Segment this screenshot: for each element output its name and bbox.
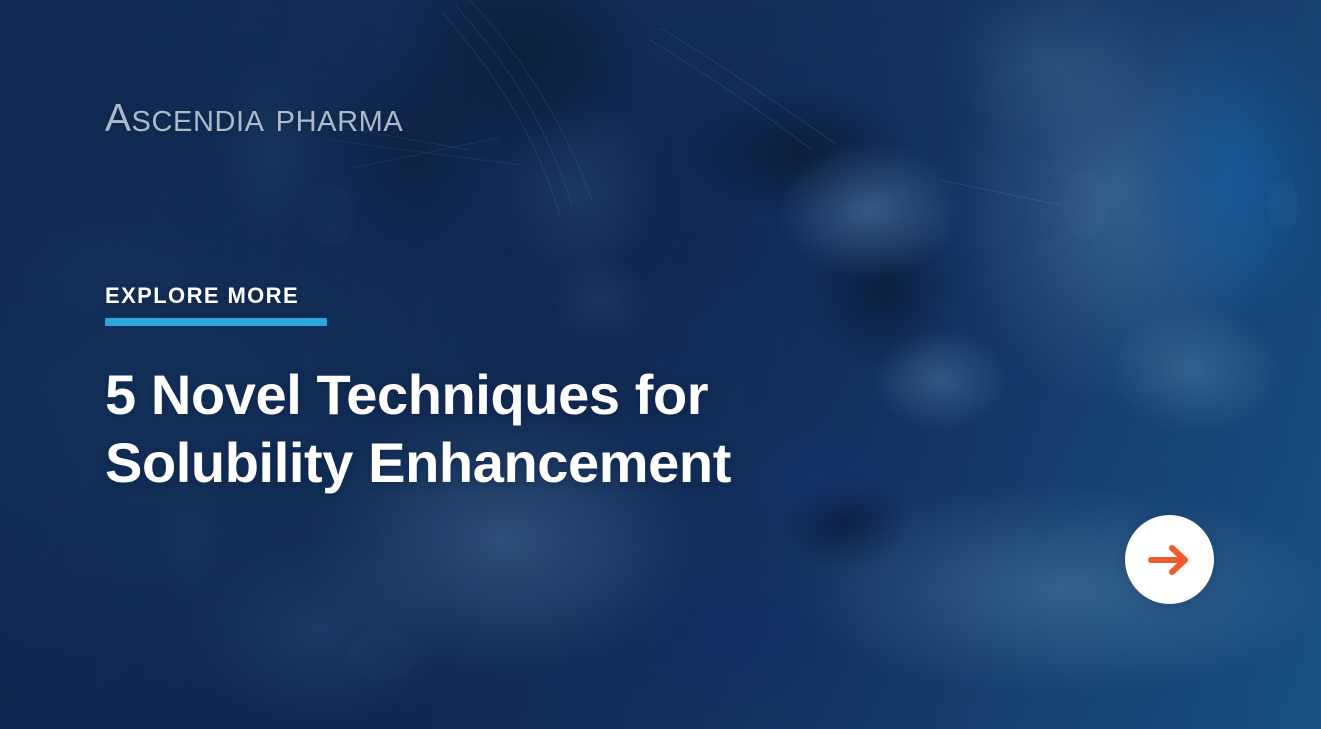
brand-logo-rest: SCENDIA	[132, 106, 265, 138]
hero-banner: ASCENDIAPHARMA EXPLORE MORE 5 Novel Tech…	[0, 0, 1321, 729]
brand-logo[interactable]: ASCENDIAPHARMA	[105, 99, 403, 138]
headline-line-2: Solubility Enhancement	[105, 429, 965, 497]
eyebrow-underline	[105, 318, 327, 326]
arrow-right-icon	[1147, 543, 1193, 577]
brand-logo-lead: A	[105, 97, 132, 140]
read-more-button[interactable]	[1125, 515, 1214, 604]
eyebrow-label: EXPLORE MORE	[105, 285, 299, 307]
headline-line-1: 5 Novel Techniques for	[105, 361, 965, 429]
page-title: 5 Novel Techniques for Solubility Enhanc…	[105, 361, 965, 497]
hero-content: ASCENDIAPHARMA EXPLORE MORE 5 Novel Tech…	[0, 0, 1321, 729]
brand-logo-word2: PHARMA	[276, 106, 404, 138]
